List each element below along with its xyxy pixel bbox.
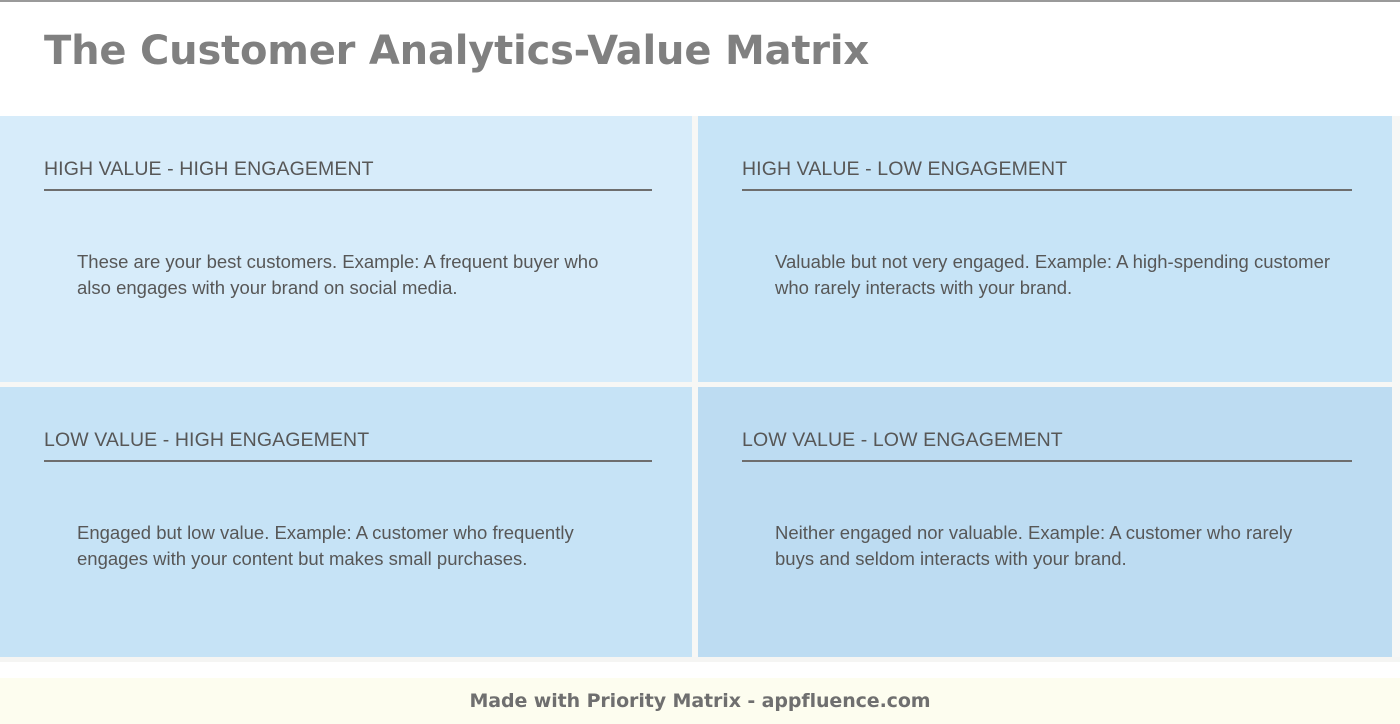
quadrant-heading-rule	[44, 189, 652, 191]
quadrant-description: Valuable but not very engaged. Example: …	[775, 249, 1335, 301]
quadrant-heading: HIGH VALUE - HIGH ENGAGEMENT	[44, 158, 652, 181]
quadrant-low-value-high-engagement[interactable]: LOW VALUE - HIGH ENGAGEMENT Engaged but …	[0, 387, 692, 657]
quadrant-description: Engaged but low value. Example: A custom…	[77, 520, 617, 572]
quadrant-matrix: HIGH VALUE - HIGH ENGAGEMENT These are y…	[0, 116, 1392, 657]
quadrant-low-value-low-engagement[interactable]: LOW VALUE - LOW ENGAGEMENT Neither engag…	[698, 387, 1392, 657]
quadrant-heading: HIGH VALUE - LOW ENGAGEMENT	[742, 158, 1352, 181]
quadrant-description: These are your best customers. Example: …	[77, 249, 617, 301]
footer-attribution[interactable]: Made with Priority Matrix - appfluence.c…	[469, 690, 930, 712]
quadrant-high-value-high-engagement[interactable]: HIGH VALUE - HIGH ENGAGEMENT These are y…	[0, 116, 692, 382]
quadrant-heading: LOW VALUE - HIGH ENGAGEMENT	[44, 429, 652, 452]
quadrant-heading-rule	[742, 189, 1352, 191]
quadrant-heading-rule	[742, 460, 1352, 462]
page-title: The Customer Analytics-Value Matrix	[44, 28, 869, 74]
footer-spacer	[0, 662, 1400, 678]
page-footer: Made with Priority Matrix - appfluence.c…	[0, 678, 1400, 724]
matrix-page: The Customer Analytics-Value Matrix HIGH…	[0, 0, 1400, 724]
right-gutter	[1392, 116, 1400, 657]
quadrant-heading: LOW VALUE - LOW ENGAGEMENT	[742, 429, 1352, 452]
quadrant-heading-rule	[44, 460, 652, 462]
quadrant-high-value-low-engagement[interactable]: HIGH VALUE - LOW ENGAGEMENT Valuable but…	[698, 116, 1392, 382]
quadrant-description: Neither engaged nor valuable. Example: A…	[775, 520, 1335, 572]
page-header: The Customer Analytics-Value Matrix	[0, 2, 1400, 116]
